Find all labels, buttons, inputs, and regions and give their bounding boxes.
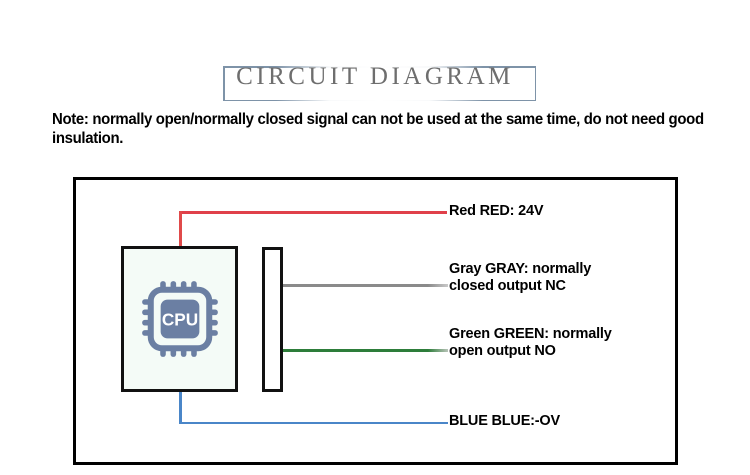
wire-red-horizontal-segment	[179, 211, 447, 214]
wire-blue-vertical-segment	[179, 390, 182, 424]
note-text: Note: normally open/normally closed sign…	[52, 110, 708, 148]
wire-blue-horizontal-segment	[179, 422, 448, 425]
cpu-component-box: CPU	[121, 246, 238, 392]
wire-green-segment	[281, 349, 448, 352]
wire-label-blue: BLUE BLUE:-OV	[449, 413, 560, 430]
wire-label-green: Green GREEN: normally open output NO	[449, 326, 612, 360]
cpu-chip-icon: CPU	[137, 276, 223, 362]
wire-label-gray: Gray GRAY: normally closed output NC	[449, 261, 591, 295]
cpu-icon-label: CPU	[161, 309, 197, 329]
title-frame-bottom-border	[223, 100, 536, 102]
wire-gray-segment	[281, 284, 448, 287]
wire-label-red: Red RED: 24V	[449, 203, 543, 220]
page-title: CIRCUIT DIAGRAM	[0, 63, 750, 91]
wire-red-vertical-segment	[179, 211, 182, 248]
contact-block-component	[262, 247, 283, 392]
